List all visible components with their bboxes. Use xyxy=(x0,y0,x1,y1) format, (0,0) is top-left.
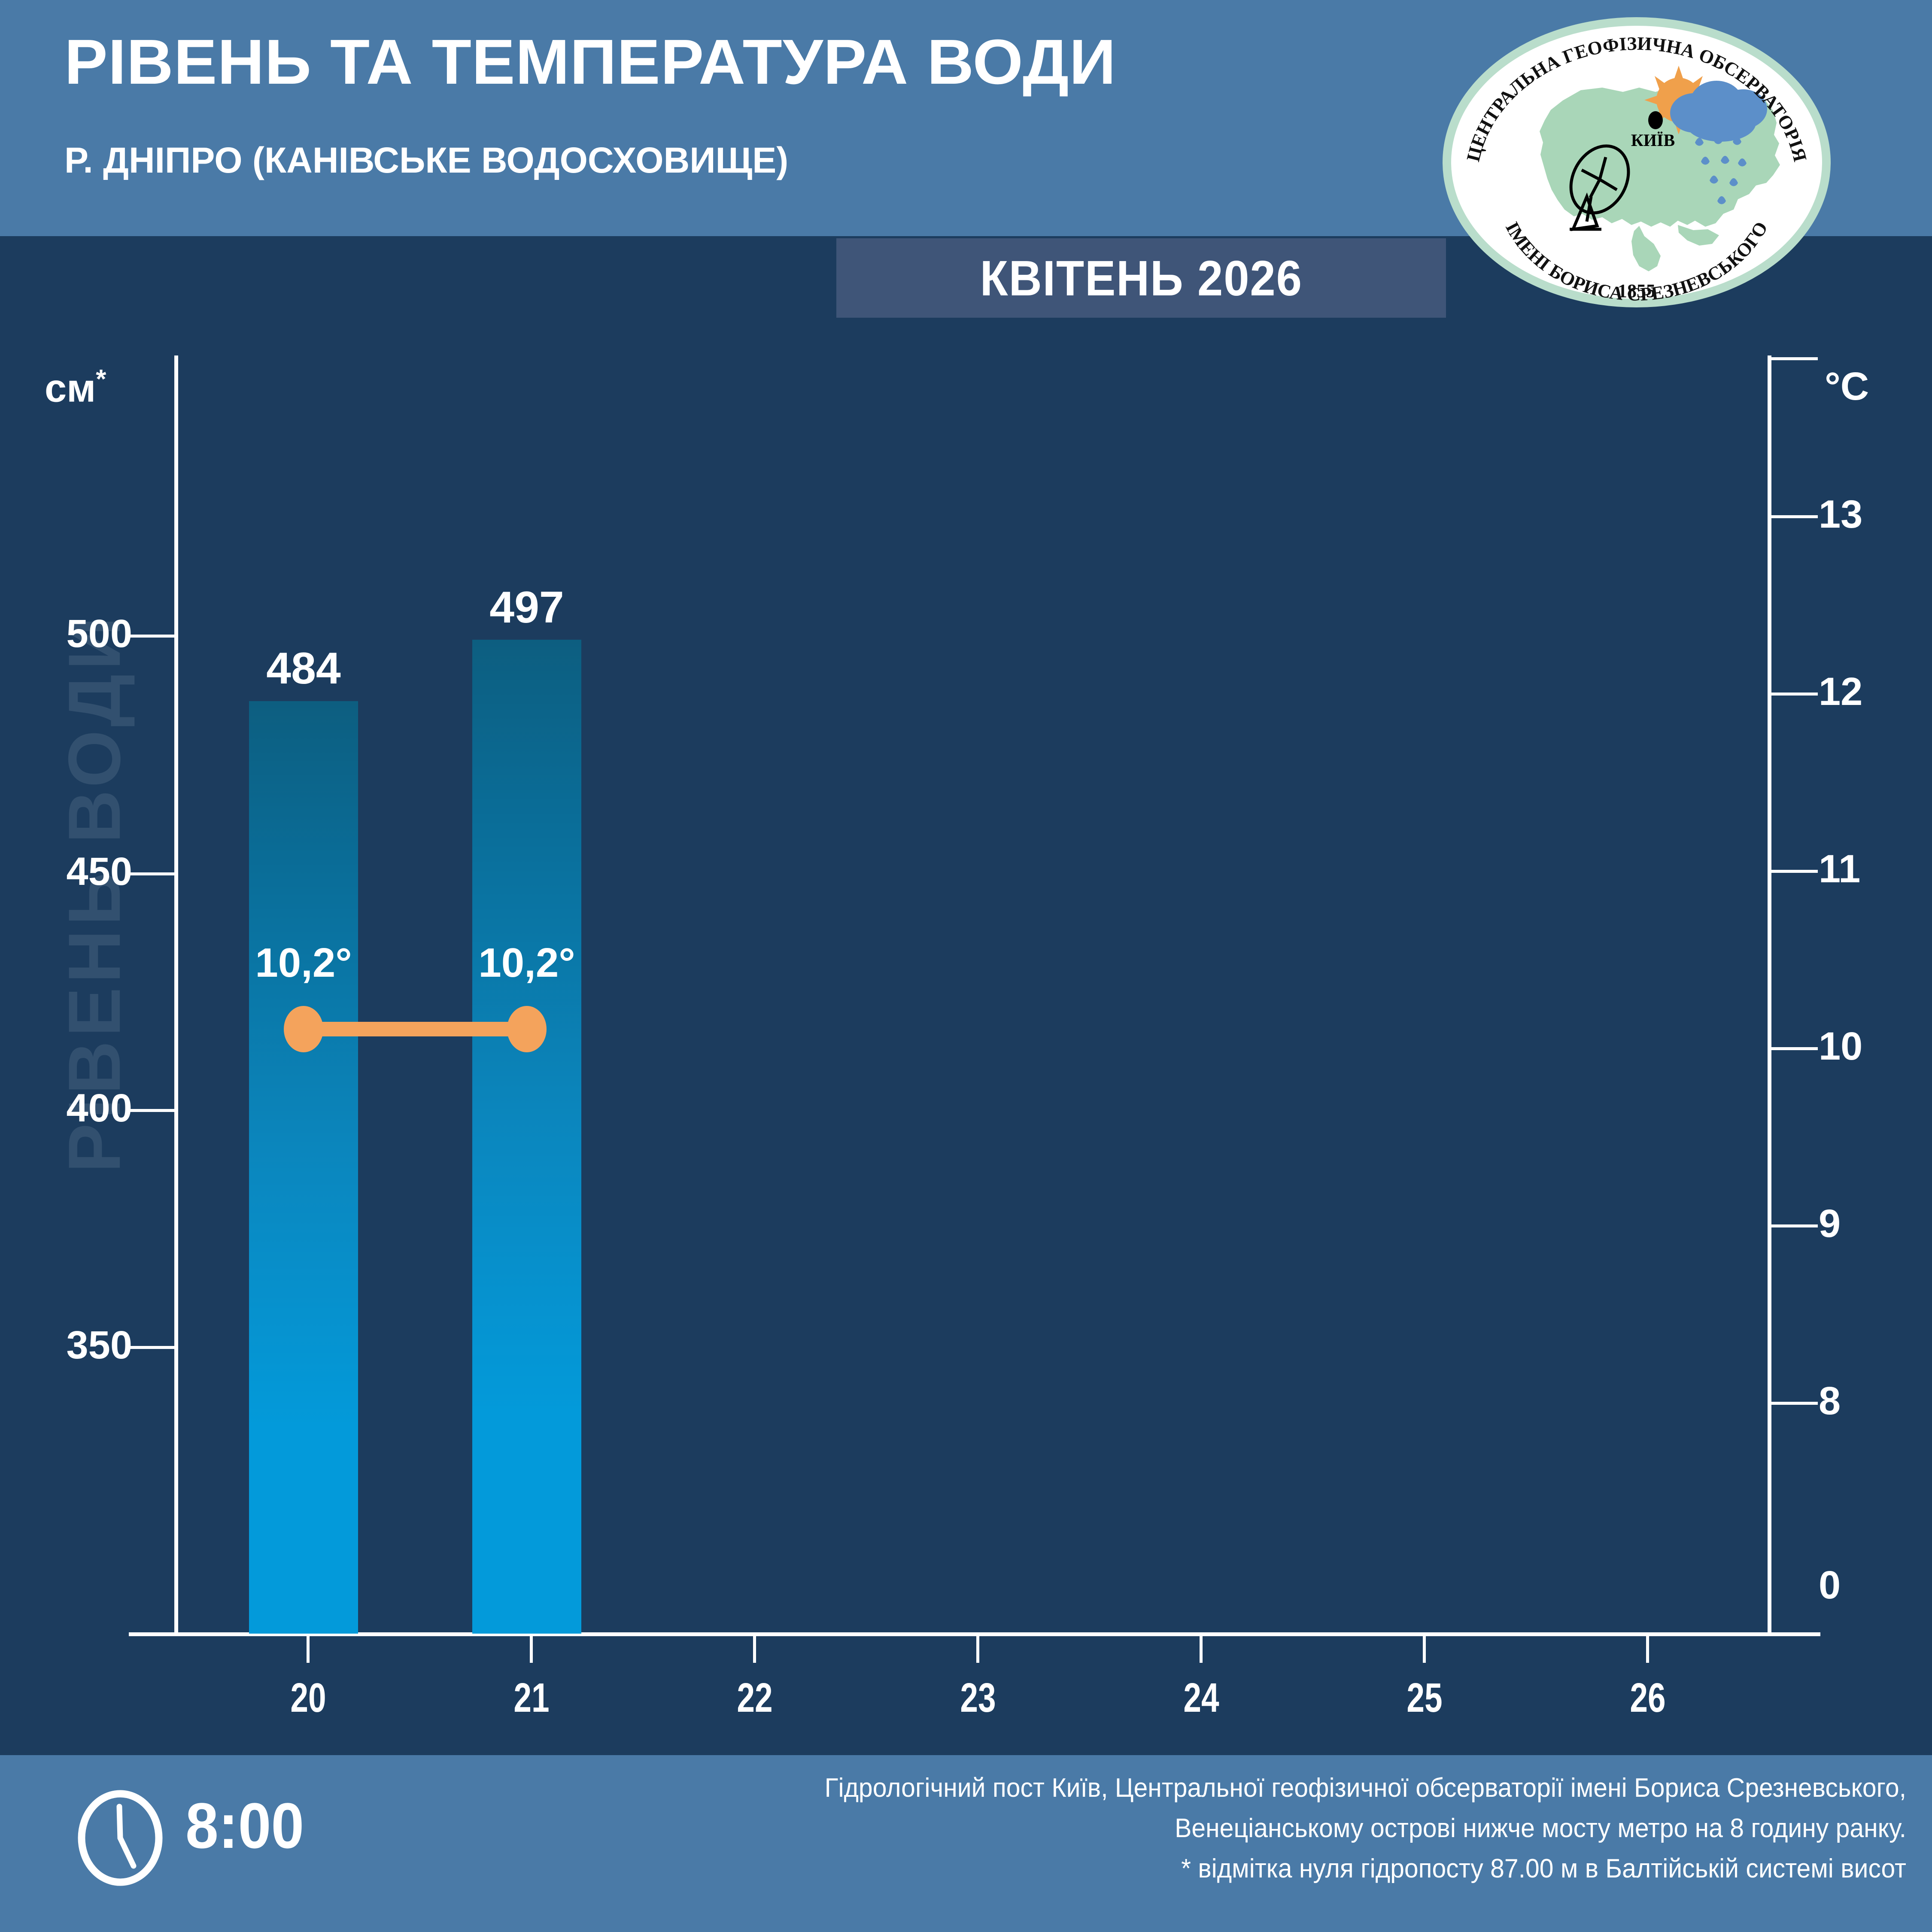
temperature-value-day-20: 10,2° xyxy=(213,939,394,987)
y-label-right-0: 13 xyxy=(1819,492,1862,537)
y-label-left-1: 450 xyxy=(67,849,133,894)
y-axis-right-line xyxy=(1768,355,1771,1635)
y-tick-left-3 xyxy=(129,1346,176,1349)
y-axis-right-unit: °C xyxy=(1825,364,1869,409)
y-tick-right-3 xyxy=(1771,1047,1818,1050)
y-tick-right-5 xyxy=(1771,1402,1818,1405)
clock-icon xyxy=(75,1789,165,1889)
y-tick-right-4 xyxy=(1771,1224,1818,1227)
y-label-right-1: 12 xyxy=(1819,669,1862,714)
y-label-right-2: 11 xyxy=(1819,847,1860,892)
y-axis-left-unit: см* xyxy=(45,364,106,411)
x-tick-1 xyxy=(530,1636,533,1663)
y-tick-left-1 xyxy=(129,872,176,875)
y-tick-right-top xyxy=(1771,357,1818,360)
y-label-left-3: 350 xyxy=(67,1323,133,1368)
x-label-20: 20 xyxy=(258,1674,358,1722)
y-label-right-5: 8 xyxy=(1819,1379,1841,1424)
x-tick-3 xyxy=(976,1636,979,1663)
footer-note-line-3: * відмітка нуля гідропосту 87.00 м в Бал… xyxy=(601,1849,1906,1889)
y-tick-right-1 xyxy=(1771,693,1818,696)
y-axis-left-line xyxy=(174,355,178,1635)
x-label-25: 25 xyxy=(1374,1674,1475,1722)
observation-time: 8:00 xyxy=(185,1789,304,1863)
footer-notes: Гідрологічний пост Київ, Центральної гео… xyxy=(532,1768,1906,1889)
x-label-24: 24 xyxy=(1151,1674,1252,1722)
bar-value-day-21: 497 xyxy=(437,582,617,633)
x-tick-6 xyxy=(1646,1636,1649,1663)
x-axis-line xyxy=(129,1632,1820,1636)
x-label-21: 21 xyxy=(481,1674,582,1722)
bar-day-20[interactable] xyxy=(249,701,358,1634)
x-tick-4 xyxy=(1200,1636,1203,1663)
x-label-26: 26 xyxy=(1598,1674,1698,1722)
footer-note-line-2: Венеціанському острові нижче мосту метро… xyxy=(601,1808,1906,1849)
temperature-line xyxy=(304,1022,527,1036)
y-label-right-4: 9 xyxy=(1819,1201,1841,1246)
x-label-23: 23 xyxy=(928,1674,1028,1722)
y-tick-left-2 xyxy=(129,1109,176,1112)
temperature-value-day-21: 10,2° xyxy=(437,939,617,987)
y-label-right-6: 0 xyxy=(1819,1563,1841,1608)
y-tick-right-2 xyxy=(1771,870,1818,873)
temperature-point-day-20[interactable] xyxy=(284,1006,323,1052)
x-tick-0 xyxy=(307,1636,310,1663)
y-label-right-3: 10 xyxy=(1819,1024,1862,1069)
page-footer: 8:00 Гідрологічний пост Київ, Центрально… xyxy=(0,1755,1932,1932)
x-tick-2 xyxy=(753,1636,756,1663)
y-label-left-0: 500 xyxy=(67,611,133,656)
chart-plot-area: см* °C 500 450 400 350 13 12 11 10 9 8 0… xyxy=(0,0,1932,1743)
footer-note-line-1: Гідрологічний пост Київ, Центральної гео… xyxy=(601,1768,1906,1808)
y-label-left-2: 400 xyxy=(67,1086,133,1131)
y-tick-left-0 xyxy=(129,635,176,638)
y-tick-right-0 xyxy=(1771,515,1818,518)
x-tick-5 xyxy=(1423,1636,1426,1663)
x-label-22: 22 xyxy=(705,1674,805,1722)
bar-value-day-20: 484 xyxy=(213,643,394,694)
temperature-point-day-21[interactable] xyxy=(507,1006,547,1052)
bar-day-21[interactable] xyxy=(472,640,581,1634)
